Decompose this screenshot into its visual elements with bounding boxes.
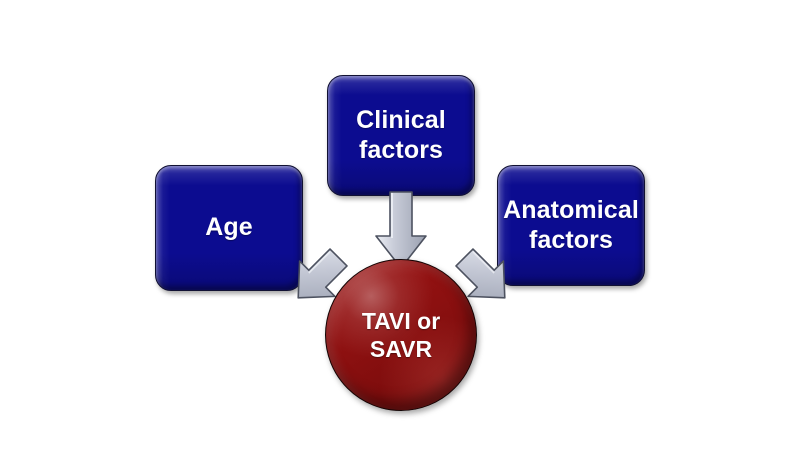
outcome-circle-label: TAVI or SAVR xyxy=(362,307,440,363)
factor-box-age[interactable]: Age xyxy=(155,165,303,291)
factor-box-anatomical-label: Anatomical factors xyxy=(503,196,639,255)
factor-box-clinical-label: Clinical factors xyxy=(356,106,446,165)
outcome-circle-tavi-savr[interactable]: TAVI or SAVR xyxy=(325,259,477,411)
diagram-canvas: Age Clinical factors Anatomical factors xyxy=(0,0,800,450)
factor-box-age-label: Age xyxy=(205,213,253,243)
factor-box-clinical[interactable]: Clinical factors xyxy=(327,75,475,196)
